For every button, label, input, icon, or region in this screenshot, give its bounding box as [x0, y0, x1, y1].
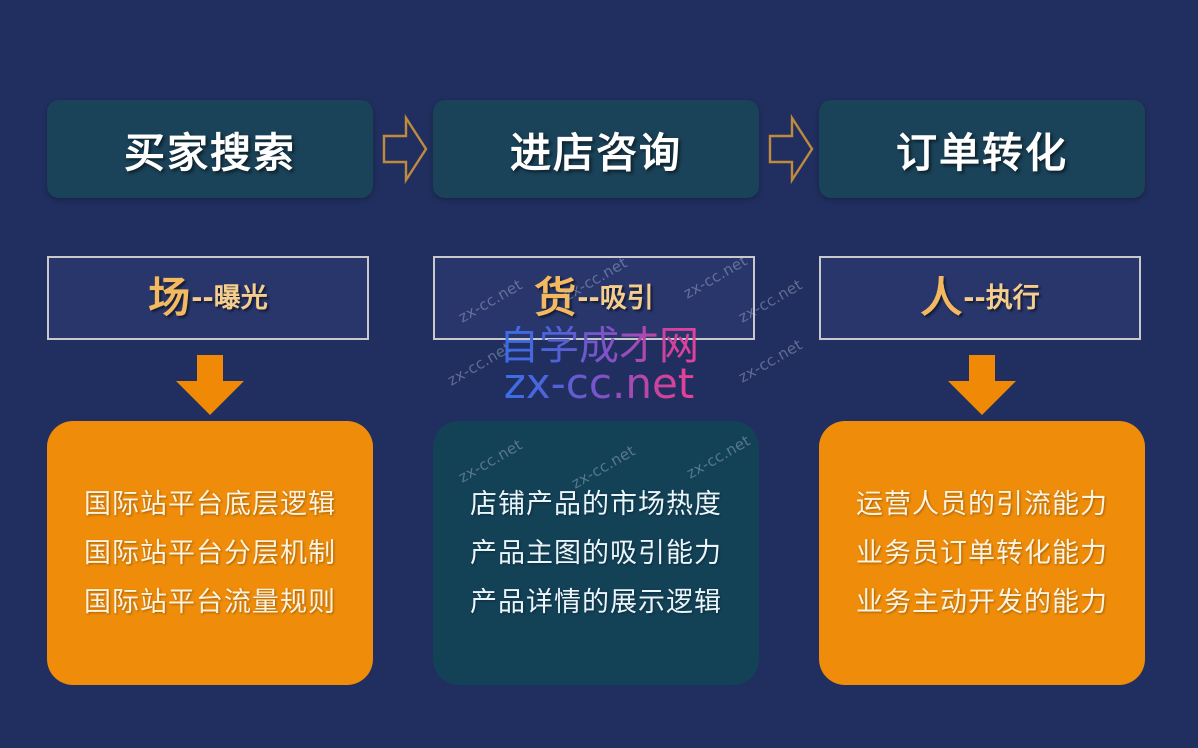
detail-card-3[interactable]: 运营人员的引流能力 业务员订单转化能力 业务主动开发的能力	[819, 421, 1145, 685]
detail-line: 业务员订单转化能力	[856, 540, 1108, 567]
detail-card-2[interactable]: 店铺产品的市场热度 产品主图的吸引能力 产品详情的展示逻辑	[433, 421, 759, 685]
pillar-label-main-3: 人	[920, 277, 962, 319]
flow-step-box-2[interactable]: 进店咨询	[433, 100, 759, 198]
flow-step-label-1: 买家搜索	[124, 119, 296, 179]
arrow-right-outline-icon	[767, 113, 815, 185]
flow-step-box-1[interactable]: 买家搜索	[47, 100, 373, 198]
flow-step-box-3[interactable]: 订单转化	[819, 100, 1145, 198]
flow-step-label-2: 进店咨询	[510, 119, 682, 179]
pillar-label-sub-3: --执行	[963, 285, 1039, 312]
arrow-down-solid-icon	[556, 355, 636, 417]
arrow-right-outline-icon	[381, 113, 429, 185]
detail-line: 业务主动开发的能力	[856, 589, 1108, 616]
arrow-down-solid-icon	[942, 355, 1022, 417]
pillar-label-sub-1: --曝光	[191, 285, 267, 312]
pillar-box-2[interactable]: 货 --吸引	[433, 256, 755, 340]
detail-line: 国际站平台分层机制	[84, 540, 336, 567]
flow-step-label-3: 订单转化	[896, 119, 1068, 179]
detail-line: 运营人员的引流能力	[856, 491, 1108, 518]
detail-card-1[interactable]: 国际站平台底层逻辑 国际站平台分层机制 国际站平台流量规则	[47, 421, 373, 685]
diagram-canvas: 买家搜索 进店咨询 订单转化 场 --曝光 国际站平台底层逻辑 国际站平台分层机…	[0, 0, 1198, 748]
detail-line: 产品主图的吸引能力	[470, 540, 722, 567]
arrow-down-solid-icon	[170, 355, 250, 417]
detail-line: 产品详情的展示逻辑	[470, 589, 722, 616]
detail-line: 国际站平台底层逻辑	[84, 491, 336, 518]
pillar-label-sub-2: --吸引	[577, 285, 653, 312]
pillar-label-main-1: 场	[148, 277, 190, 319]
detail-line: 国际站平台流量规则	[84, 589, 336, 616]
detail-line: 店铺产品的市场热度	[470, 491, 722, 518]
pillar-label-main-2: 货	[534, 277, 576, 319]
pillar-box-3[interactable]: 人 --执行	[819, 256, 1141, 340]
pillar-box-1[interactable]: 场 --曝光	[47, 256, 369, 340]
